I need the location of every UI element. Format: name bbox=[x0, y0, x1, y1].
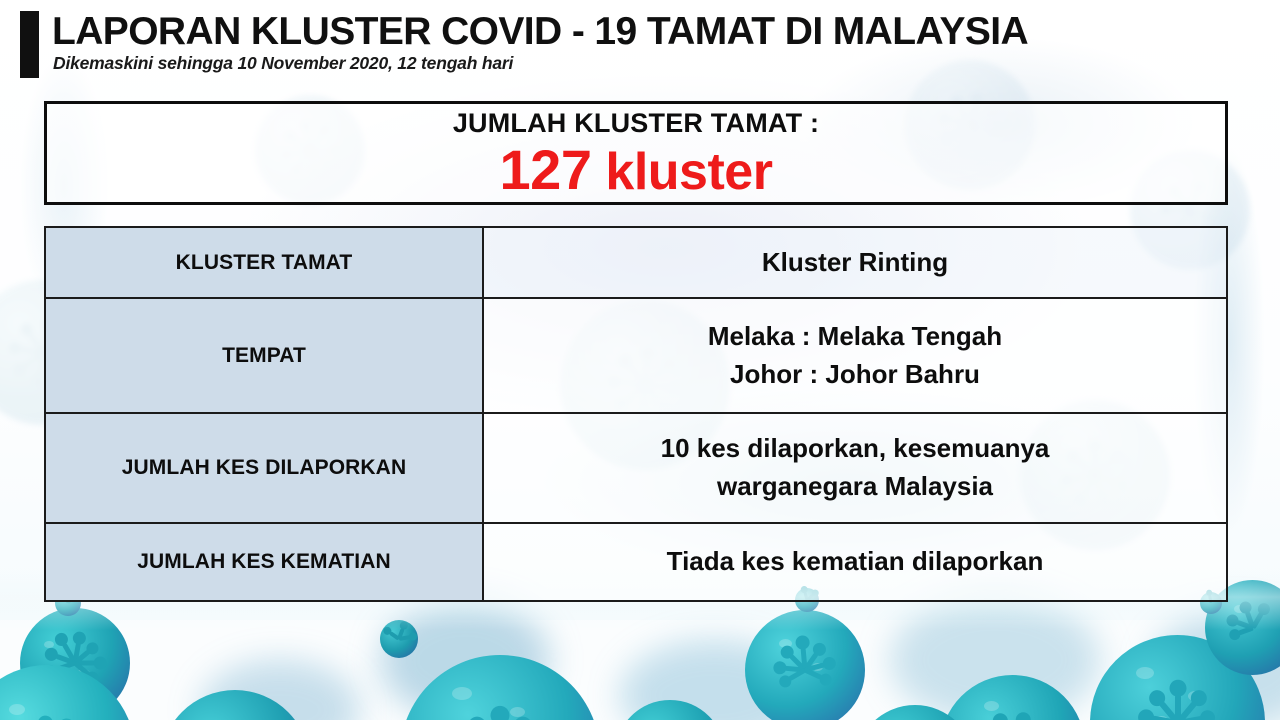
summary-box: JUMLAH KLUSTER TAMAT : 127 kluster bbox=[44, 101, 1228, 205]
value-line: 10 kes dilaporkan, kesemuanya bbox=[661, 430, 1050, 468]
table-row-value: Kluster Rinting bbox=[484, 228, 1226, 297]
table-row: KLUSTER TAMAT Kluster Rinting bbox=[46, 228, 1226, 299]
page-subtitle: Dikemaskini sehingga 10 November 2020, 1… bbox=[53, 53, 513, 74]
table-row-label: JUMLAH KES DILAPORKAN bbox=[46, 414, 484, 522]
value-line: Tiada kes kematian dilaporkan bbox=[667, 543, 1044, 581]
value-line: Melaka : Melaka Tengah bbox=[708, 318, 1002, 356]
table-row-value: 10 kes dilaporkan, kesemuanya warganegar… bbox=[484, 414, 1226, 522]
summary-value-number: 127 bbox=[500, 138, 592, 201]
value-line: warganegara Malaysia bbox=[717, 468, 993, 506]
cluster-info-table: KLUSTER TAMAT Kluster Rinting TEMPAT Mel… bbox=[44, 226, 1228, 602]
title-accent-bar bbox=[20, 11, 39, 78]
table-row: JUMLAH KES DILAPORKAN 10 kes dilaporkan,… bbox=[46, 414, 1226, 524]
poster-header: LAPORAN KLUSTER COVID - 19 TAMAT DI MALA… bbox=[0, 0, 1280, 92]
summary-value: 127 kluster bbox=[47, 141, 1225, 200]
value-line: Kluster Rinting bbox=[762, 244, 948, 282]
value-line: Johor : Johor Bahru bbox=[730, 356, 980, 394]
summary-label: JUMLAH KLUSTER TAMAT : bbox=[47, 108, 1225, 139]
summary-value-unit: kluster bbox=[605, 143, 772, 201]
page-title: LAPORAN KLUSTER COVID - 19 TAMAT DI MALA… bbox=[52, 10, 1028, 54]
table-row-value: Melaka : Melaka Tengah Johor : Johor Bah… bbox=[484, 299, 1226, 412]
table-row: TEMPAT Melaka : Melaka Tengah Johor : Jo… bbox=[46, 299, 1226, 414]
poster-canvas: LAPORAN KLUSTER COVID - 19 TAMAT DI MALA… bbox=[0, 0, 1280, 720]
table-row-label: TEMPAT bbox=[46, 299, 484, 412]
table-row-value: Tiada kes kematian dilaporkan bbox=[484, 524, 1226, 600]
table-row-label: JUMLAH KES KEMATIAN bbox=[46, 524, 484, 600]
table-row-label: KLUSTER TAMAT bbox=[46, 228, 484, 297]
table-row: JUMLAH KES KEMATIAN Tiada kes kematian d… bbox=[46, 524, 1226, 600]
